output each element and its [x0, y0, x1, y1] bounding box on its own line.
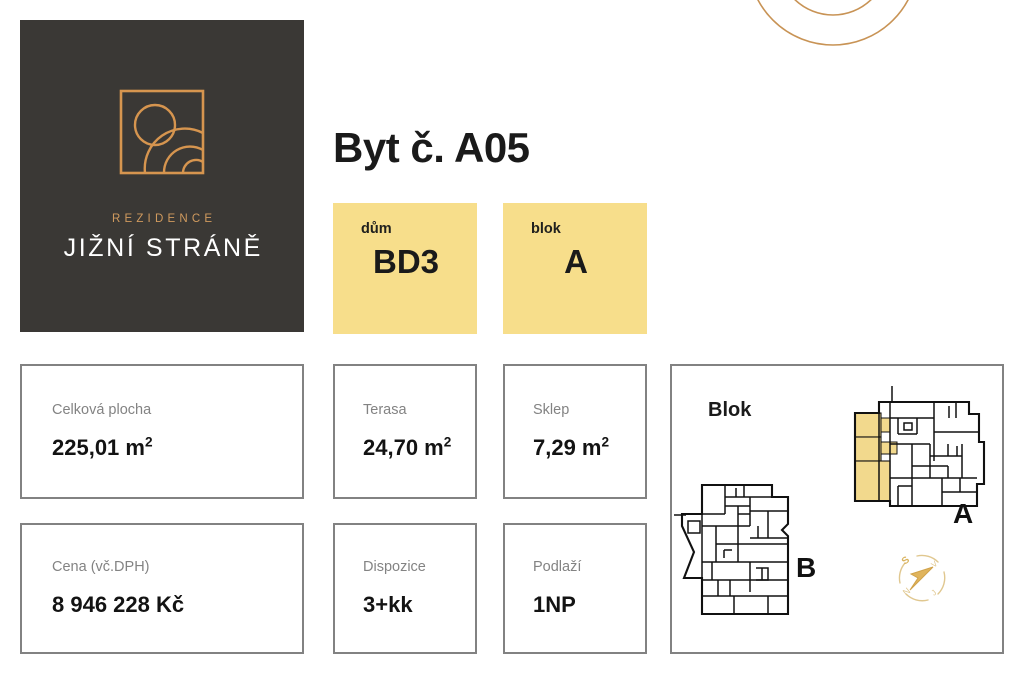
card-total-area-label: Celková plocha — [52, 402, 302, 418]
card-floor-label: Podlaží — [533, 559, 645, 575]
card-price-label: Cena (vč.DPH) — [52, 559, 302, 575]
card-layout: Dispozice 3+kk — [333, 523, 477, 654]
value-text: 1NP — [533, 592, 576, 617]
svg-text:N: N — [901, 586, 912, 598]
card-price: Cena (vč.DPH) 8 946 228 Kč — [20, 523, 304, 654]
value-text: 7,29 m — [533, 435, 602, 460]
brand-name: JIŽNÍ STRÁNĚ — [61, 234, 263, 263]
building-a-floorplan — [855, 386, 984, 506]
concentric-arcs-icon — [718, 0, 948, 100]
card-cellar-label: Sklep — [533, 402, 645, 418]
card-terrace-label: Terasa — [363, 402, 475, 418]
unit-superscript: 2 — [444, 435, 452, 450]
badge-block-label: blok — [531, 221, 647, 237]
card-total-area: Celková plocha 225,01 m2 — [20, 364, 304, 499]
card-price-value: 8 946 228 Kč — [52, 592, 302, 618]
badge-block[interactable]: blok A — [503, 203, 647, 334]
card-cellar: Sklep 7,29 m2 — [503, 364, 647, 499]
value-text: 3+kk — [363, 592, 413, 617]
brand-eyebrow: REZIDENCE — [108, 213, 216, 225]
card-terrace-value: 24,70 m2 — [363, 435, 475, 461]
compass-rose-icon: S N V J — [899, 554, 944, 600]
card-layout-value: 3+kk — [363, 592, 475, 618]
value-text: 8 946 228 Kč — [52, 592, 184, 617]
value-text: 225,01 m — [52, 435, 145, 460]
unit-superscript: 2 — [602, 435, 610, 450]
brand-panel: REZIDENCE JIŽNÍ STRÁNĚ — [20, 20, 304, 332]
decorative-arcs — [718, 0, 948, 100]
card-total-area-value: 225,01 m2 — [52, 435, 302, 461]
card-floor-value: 1NP — [533, 592, 645, 618]
card-floor: Podlaží 1NP — [503, 523, 647, 654]
svg-text:J: J — [930, 588, 939, 597]
badge-house[interactable]: dům BD3 — [333, 203, 477, 334]
value-text: 24,70 m — [363, 435, 444, 460]
page-title: Byt č. A05 — [333, 124, 530, 172]
badge-block-value: A — [531, 245, 647, 278]
card-layout-label: Dispozice — [363, 559, 475, 575]
svg-text:S: S — [900, 554, 912, 567]
badge-house-label: dům — [361, 221, 477, 237]
unit-superscript: 2 — [145, 435, 153, 450]
building-b-floorplan — [674, 485, 788, 614]
residence-logo-icon — [119, 89, 205, 175]
card-cellar-value: 7,29 m2 — [533, 435, 645, 461]
building-b-label: B — [796, 552, 816, 584]
badge-house-value: BD3 — [361, 245, 477, 278]
card-terrace: Terasa 24,70 m2 — [333, 364, 477, 499]
building-a-label: A — [953, 498, 973, 530]
sitemap-panel[interactable]: Blok — [670, 364, 1004, 654]
